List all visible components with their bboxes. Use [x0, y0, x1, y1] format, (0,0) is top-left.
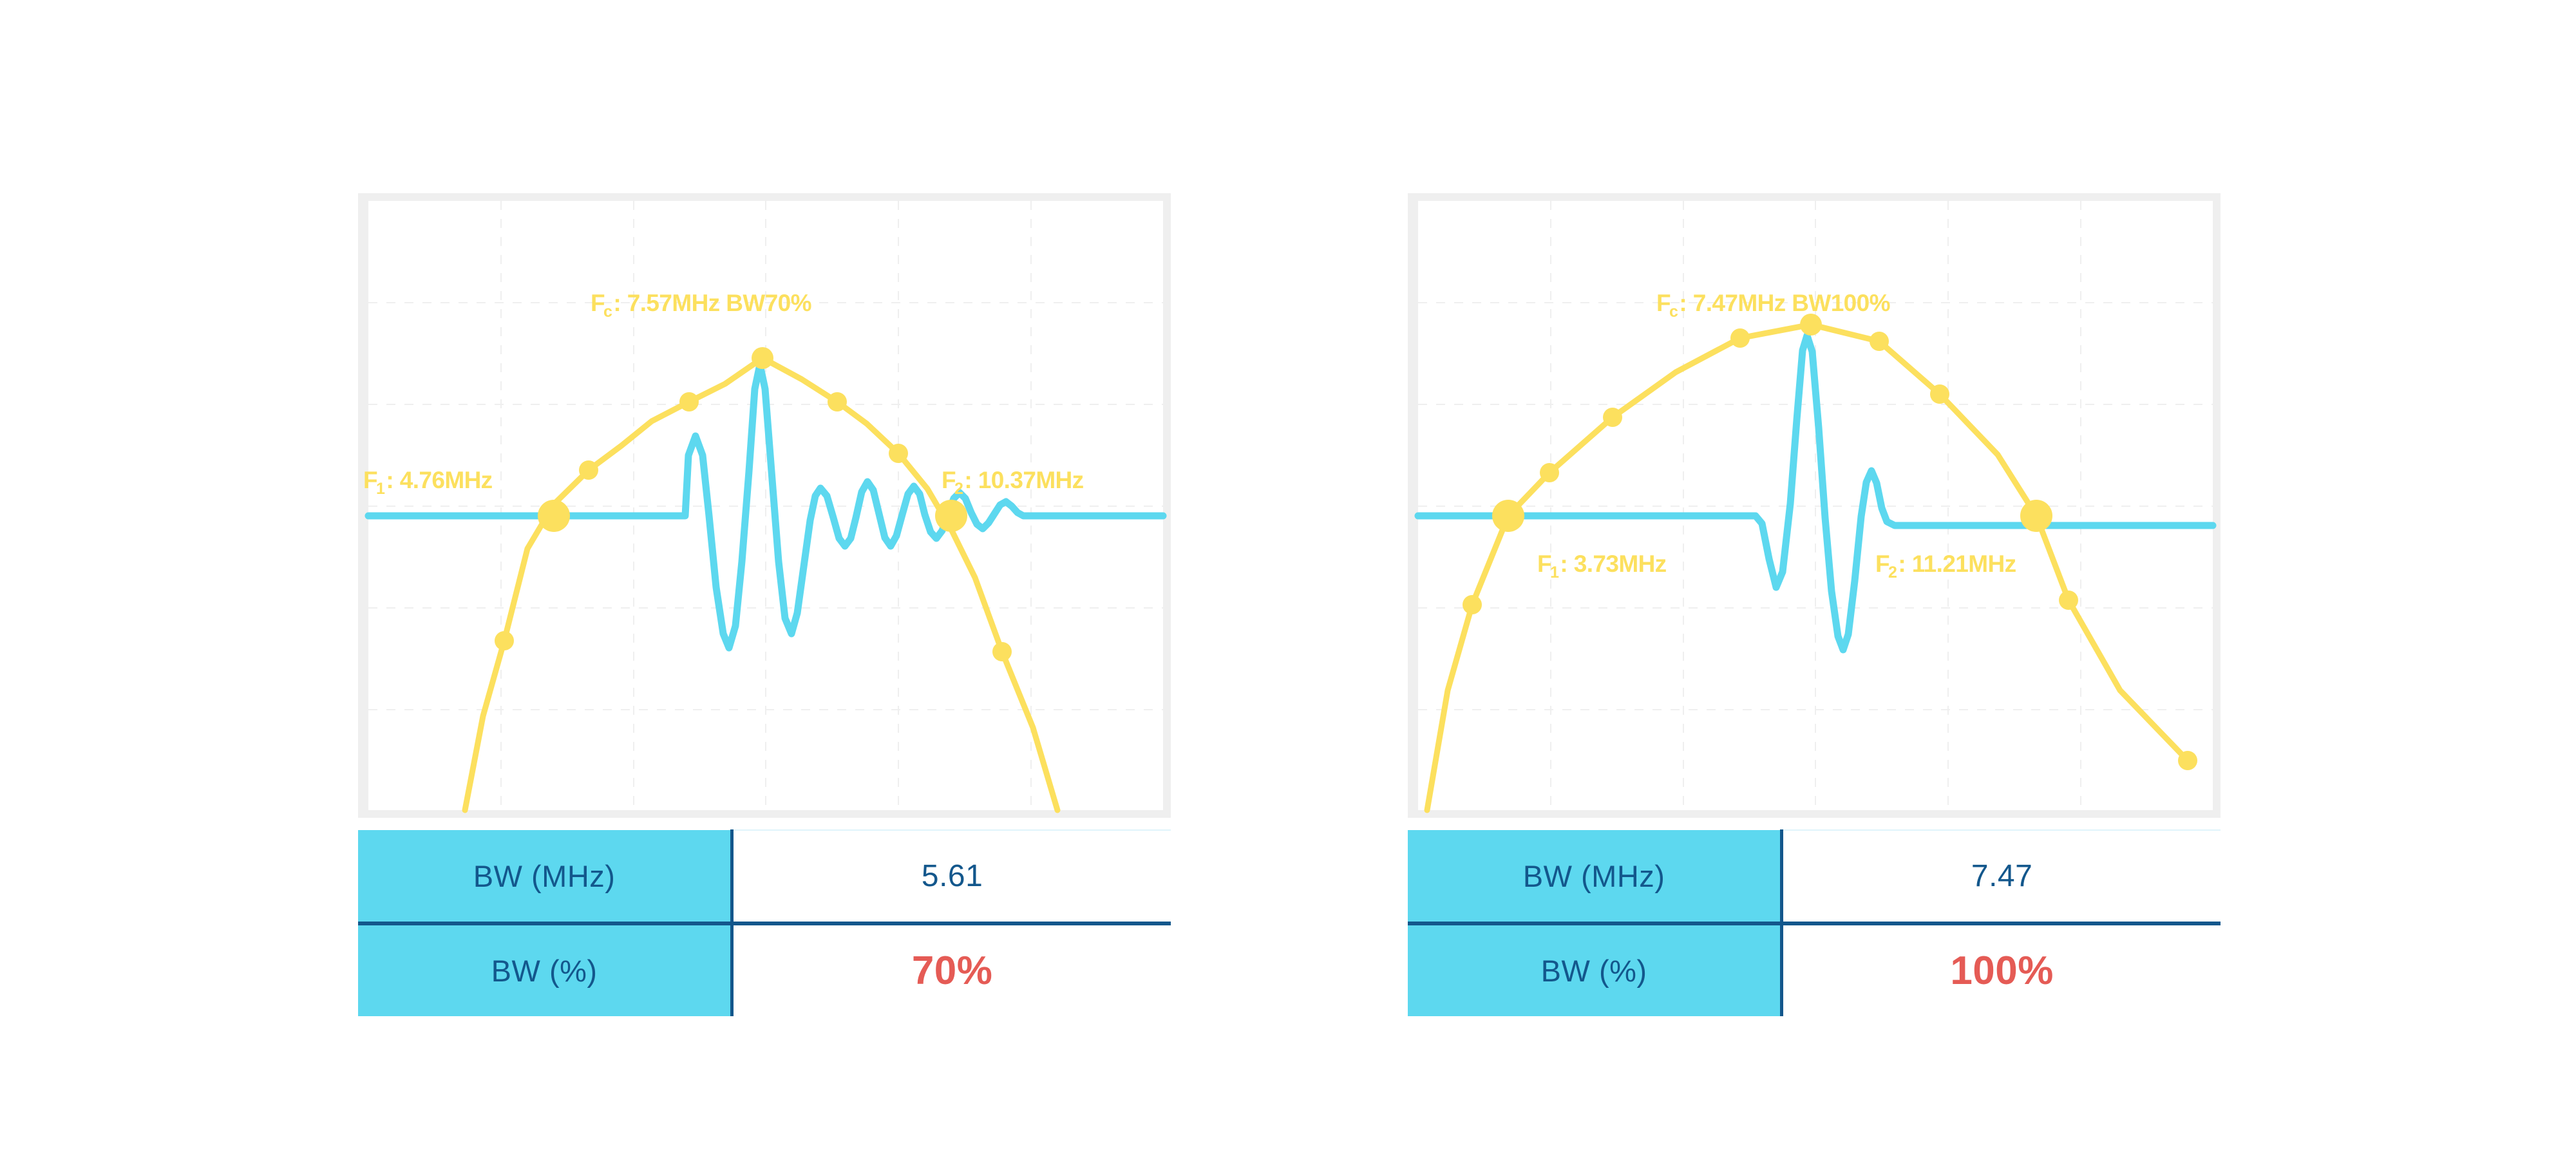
label-f2-subscript-bw100: 2 [1888, 563, 1897, 582]
label-fc-subscript-bw70: c [603, 303, 612, 321]
label-f2-subscript-bw70: 2 [954, 480, 963, 498]
label-f2-text-bw70: : 10.37MHz [964, 467, 1083, 493]
bw-table-bw70: BW (MHz) 5.61 BW (%) 70% [358, 829, 1171, 1016]
label-f2-symbol-bw70: F [942, 467, 956, 493]
label-fc-text-bw100: : 7.47MHz BW100% [1679, 290, 1890, 316]
row-value-bw-pct-bw100: 100% [1782, 923, 2221, 1016]
label-fc-subscript-bw100: c [1669, 303, 1678, 321]
label-f1-bw100: F1: 3.73MHz [1537, 552, 1667, 576]
panel-bw70: Fc: 7.57MHz BW70% F1: 4.76MHz F2: 10.37M… [358, 193, 1171, 818]
label-f1-symbol-bw100: F [1537, 551, 1551, 577]
row-label-bw-pct-bw100: BW (%) [1408, 923, 1782, 1016]
chart-box-bw70: Fc: 7.57MHz BW70% F1: 4.76MHz F2: 10.37M… [358, 193, 1171, 818]
label-f2-bw70: F2: 10.37MHz [942, 468, 1084, 492]
label-f2-text-bw100: : 11.21MHz [1898, 551, 2016, 577]
panel-bw100: Fc: 7.47MHz BW100% F1: 3.73MHz F2: 11.21… [1408, 193, 2221, 818]
label-f1-text-bw100: : 3.73MHz [1560, 551, 1666, 577]
label-fc-symbol-bw70: F [591, 290, 605, 316]
table-row: BW (%) 70% [358, 923, 1171, 1016]
spectrum-curve-bw70 [465, 358, 1057, 810]
marker-f1-bw100 [1492, 500, 1524, 532]
label-f1-symbol-bw70: F [363, 467, 377, 493]
bw-table-bw100: BW (MHz) 7.47 BW (%) 100% [1408, 829, 2221, 1016]
row-value-bw-mhz-bw70: 5.61 [732, 830, 1171, 923]
label-fc-text-bw70: : 7.57MHz BW70% [613, 290, 811, 316]
label-fc-bw100: Fc: 7.47MHz BW100% [1656, 291, 1890, 315]
chart-box-bw100: Fc: 7.47MHz BW100% F1: 3.73MHz F2: 11.21… [1408, 193, 2221, 818]
marker-f2-bw100 [2020, 500, 2052, 532]
row-label-bw-mhz-bw100: BW (MHz) [1408, 830, 1782, 923]
label-f1-subscript-bw100: 1 [1550, 563, 1558, 582]
table-row: BW (MHz) 7.47 [1408, 830, 2221, 923]
label-f2-symbol-bw100: F [1875, 551, 1889, 577]
row-label-bw-mhz-bw70: BW (MHz) [358, 830, 732, 923]
label-f2-bw100: F2: 11.21MHz [1875, 552, 2016, 576]
row-value-bw-mhz-bw100: 7.47 [1782, 830, 2221, 923]
label-f1-bw70: F1: 4.76MHz [363, 468, 493, 492]
table-row: BW (MHz) 5.61 [358, 830, 1171, 923]
marker-f2-bw70 [935, 500, 967, 532]
marker-f1-bw70 [538, 500, 570, 532]
label-f1-text-bw70: : 4.76MHz [386, 467, 492, 493]
label-fc-bw70: Fc: 7.57MHz BW70% [591, 291, 811, 315]
plot-area-bw70: Fc: 7.57MHz BW70% F1: 4.76MHz F2: 10.37M… [368, 201, 1163, 810]
plot-area-bw100: Fc: 7.47MHz BW100% F1: 3.73MHz F2: 11.21… [1418, 201, 2213, 810]
row-value-bw-pct-bw70: 70% [732, 923, 1171, 1016]
row-label-bw-pct-bw70: BW (%) [358, 923, 732, 1016]
figure-canvas: Fc: 7.57MHz BW70% F1: 4.76MHz F2: 10.37M… [0, 0, 2576, 1154]
label-f1-subscript-bw70: 1 [376, 480, 384, 498]
table-row: BW (%) 100% [1408, 923, 2221, 1016]
label-fc-symbol-bw100: F [1656, 290, 1671, 316]
